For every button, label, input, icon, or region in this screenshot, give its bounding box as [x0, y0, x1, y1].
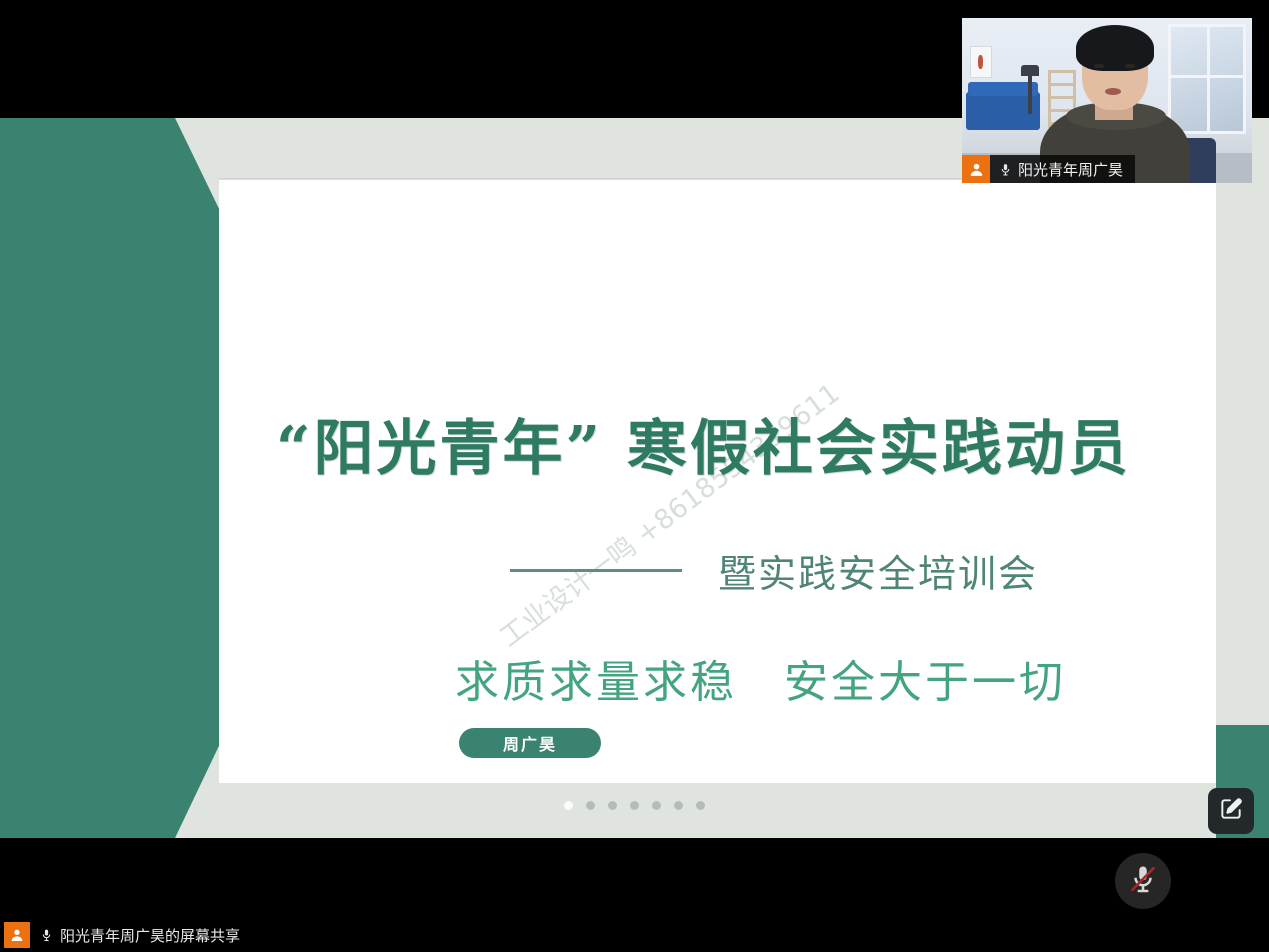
- page-dot[interactable]: [652, 801, 661, 810]
- slide-subtitle-row: 暨实践安全培训会: [510, 543, 1038, 598]
- slide-subtitle-dash: [510, 569, 682, 572]
- annotate-button[interactable]: [1208, 788, 1254, 834]
- page-dot[interactable]: [564, 801, 573, 810]
- person-icon: [962, 155, 990, 183]
- page-dot[interactable]: [674, 801, 683, 810]
- slide-subtitle: 暨实践安全培训会: [718, 543, 1038, 598]
- room-window: [1168, 24, 1246, 134]
- presenter-badge: 周广昊: [459, 728, 601, 758]
- page-dot[interactable]: [608, 801, 617, 810]
- page-dot[interactable]: [696, 801, 705, 810]
- person-mouth: [1105, 88, 1121, 95]
- floor-lamp: [1028, 74, 1032, 114]
- webcam-thumbnail[interactable]: 阳光青年周广昊: [962, 18, 1252, 183]
- person-eye-right: [1125, 64, 1135, 68]
- person-hair: [1076, 25, 1154, 71]
- page-dot[interactable]: [630, 801, 639, 810]
- person-eye-left: [1094, 64, 1104, 68]
- webcam-participant-name: 阳光青年周广昊: [1018, 159, 1135, 180]
- person-icon: [4, 922, 30, 948]
- microphone-icon: [40, 926, 53, 944]
- screen-share-status-bar: 阳光青年周广昊的屏幕共享: [0, 918, 1269, 952]
- page-dot[interactable]: [586, 801, 595, 810]
- mute-toggle-button[interactable]: [1115, 853, 1171, 909]
- shared-slide[interactable]: 工业设计一鸣 +8618554319611 “阳光青年” 寒假社会实践动员 暨实…: [0, 118, 1269, 838]
- pencil-annotate-icon: [1218, 796, 1244, 827]
- presenter-name: 周广昊: [503, 731, 557, 755]
- screen-share-viewport: 工业设计一鸣 +8618554319611 “阳光青年” 寒假社会实践动员 暨实…: [0, 0, 1269, 952]
- screen-share-status-text: 阳光青年周广昊的屏幕共享: [60, 925, 240, 946]
- microphone-muted-icon: [1128, 864, 1158, 899]
- wall-art: [970, 46, 992, 78]
- webcam-name-bar: 阳光青年周广昊: [962, 155, 1135, 183]
- slide-slogan: 求质求量求稳 安全大于一切: [455, 646, 1066, 710]
- microphone-icon: [999, 161, 1012, 178]
- slide-title: “阳光青年” 寒假社会实践动员: [276, 400, 1131, 487]
- page-indicator-dots[interactable]: [0, 801, 1269, 810]
